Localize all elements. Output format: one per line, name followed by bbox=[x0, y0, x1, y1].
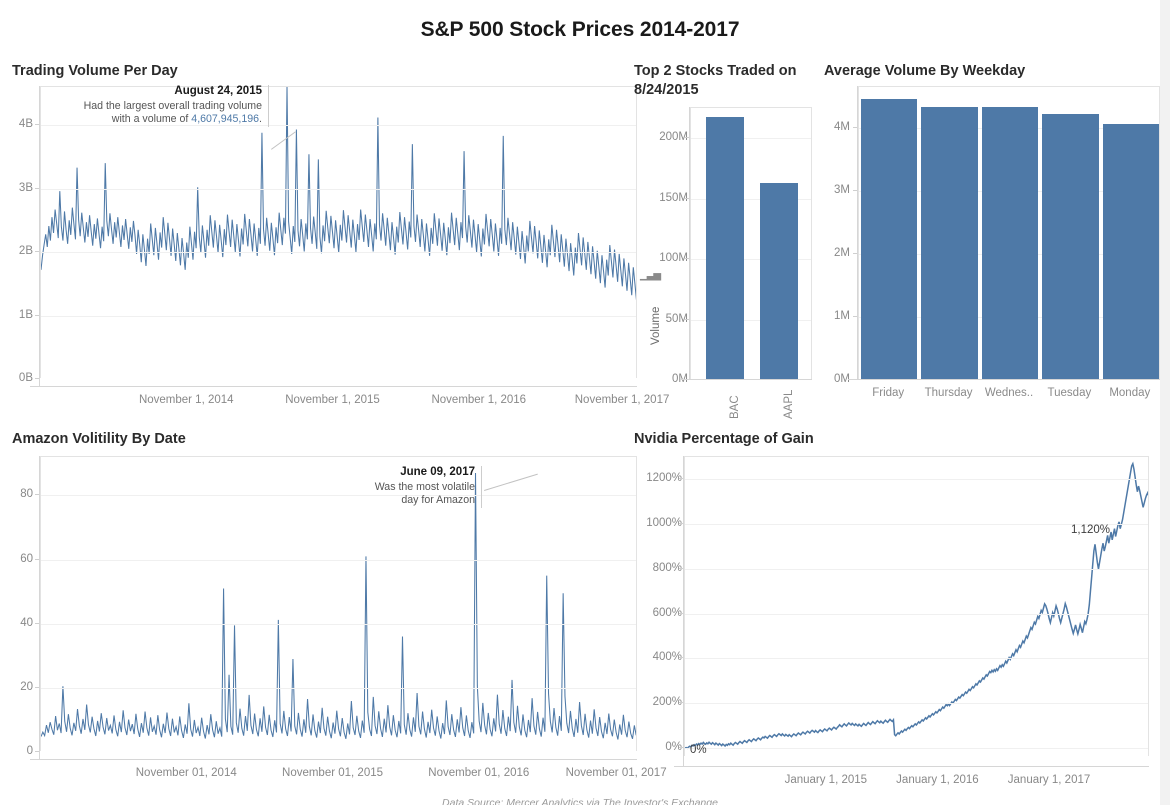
bar-wednes[interactable] bbox=[982, 107, 1038, 379]
panel-title-trading-volume: Trading Volume Per Day bbox=[12, 62, 637, 81]
x-axis-tick-label: January 1, 2017 bbox=[1008, 774, 1090, 786]
x-axis-tick-label: November 1, 2015 bbox=[285, 394, 380, 406]
bar-monday[interactable] bbox=[1103, 124, 1159, 379]
annotation-line-2-suffix: . bbox=[259, 113, 262, 125]
nvidia-end-value-label: 1,120% bbox=[1071, 524, 1110, 536]
y-axis-tick-label: 40 bbox=[20, 617, 33, 629]
x-axis-tick-label: November 01, 2015 bbox=[282, 767, 383, 779]
panel-title-top-2-stocks-line1: Top 2 Stocks Traded on bbox=[634, 62, 818, 81]
axis-line-bottom bbox=[680, 379, 812, 380]
axis-line-left bbox=[39, 86, 40, 386]
y-axis-tick-label: 100M bbox=[659, 252, 688, 264]
panel-title-nvidia: Nvidia Percentage of Gain bbox=[634, 430, 1160, 449]
annotation-heading: August 24, 2015 bbox=[32, 85, 262, 99]
gridline bbox=[685, 658, 1148, 659]
y-axis-tick-label: 1200% bbox=[646, 472, 682, 484]
panel-top-2-stocks: Top 2 Stocks Traded on 8/24/2015 ▁▃▅ Vol… bbox=[634, 62, 818, 417]
trading-volume-line-series bbox=[41, 87, 637, 378]
x-axis-tick-label: November 01, 2016 bbox=[428, 767, 529, 779]
y-axis-tick-label: 600% bbox=[653, 607, 682, 619]
y-axis-tick-label: 1M bbox=[834, 310, 850, 322]
panel-amazon-volatility: Amazon Volitility By Date 020406080 Nove… bbox=[12, 430, 637, 790]
x-axis-tick-label: January 1, 2015 bbox=[785, 774, 867, 786]
dashboard-title: S&P 500 Stock Prices 2014-2017 bbox=[0, 18, 1160, 42]
data-source-footer: Data Source: Mercer Analytics via The In… bbox=[0, 797, 1160, 805]
panel-average-volume-by-weekday: Average Volume By Weekday 0M1M2M3M4M Fri… bbox=[824, 62, 1160, 417]
gridline bbox=[685, 614, 1148, 615]
panel-nvidia-percentage-of-gain: Nvidia Percentage of Gain 0%200%400%600%… bbox=[634, 430, 1160, 790]
bar-friday[interactable] bbox=[861, 99, 917, 379]
gridline bbox=[685, 703, 1148, 704]
y-axis-tick-label: 1000% bbox=[646, 517, 682, 529]
y-axis-tick-label: 2M bbox=[834, 247, 850, 259]
y-axis-tick-label: 2B bbox=[19, 245, 33, 257]
gridline bbox=[685, 748, 1148, 749]
y-axis-tick-label: 150M bbox=[659, 192, 688, 204]
y-axis-tick-label: 1B bbox=[19, 309, 33, 321]
y-axis-tick-label: 20 bbox=[20, 681, 33, 693]
y-axis-tick-label: 3M bbox=[834, 184, 850, 196]
average-volume-plot-area[interactable] bbox=[858, 86, 1160, 379]
x-axis-tick-label: November 1, 2016 bbox=[431, 394, 526, 406]
gridline bbox=[41, 316, 636, 317]
panel-trading-volume-per-day: Trading Volume Per Day 0B1B2B3B4B Novemb… bbox=[12, 62, 637, 417]
y-axis-tick-label: 200M bbox=[659, 131, 688, 143]
annotation-august-24-2015: August 24, 2015 Had the largest overall … bbox=[32, 85, 269, 127]
axis-line-bottom bbox=[848, 379, 1160, 380]
bar-category-label: BAC bbox=[729, 395, 741, 419]
bar-category-label: Tuesday bbox=[1048, 387, 1092, 399]
x-axis-tick-label: November 01, 2014 bbox=[136, 767, 237, 779]
annotation-volume-value: 4,607,945,196 bbox=[191, 113, 259, 125]
top-2-stocks-plot-area[interactable] bbox=[690, 107, 812, 379]
panel-title-amazon-volatility: Amazon Volitility By Date bbox=[12, 430, 637, 449]
axis-line-left bbox=[683, 456, 684, 766]
y-axis-tick-label: 80 bbox=[20, 488, 33, 500]
nvidia-line-series bbox=[685, 457, 1149, 756]
gridline bbox=[685, 479, 1148, 480]
axis-line-left bbox=[689, 107, 690, 379]
annotation-line-2: with a volume of 4,607,945,196. bbox=[32, 113, 262, 127]
y-axis-tick-label: 0B bbox=[19, 372, 33, 384]
annotation-line-1: Was the most volatile bbox=[322, 481, 475, 495]
trading-volume-plot-area[interactable] bbox=[40, 86, 637, 378]
bar-category-label: Wednes.. bbox=[985, 387, 1033, 399]
bar-aapl[interactable] bbox=[760, 183, 798, 379]
y-axis-tick-label: 4M bbox=[834, 121, 850, 133]
gridline bbox=[41, 688, 636, 689]
annotation-line-1: Had the largest overall trading volume bbox=[32, 100, 262, 114]
x-axis-tick-label: November 1, 2014 bbox=[139, 394, 234, 406]
y-axis-tick-label: 4B bbox=[19, 118, 33, 130]
gridline bbox=[41, 189, 636, 190]
axis-line-left bbox=[857, 86, 858, 379]
axis-line-left bbox=[39, 456, 40, 759]
panel-title-top-2-stocks-line2: 8/24/2015 bbox=[634, 81, 818, 100]
sort-descending-icon[interactable]: ▁▃▅ bbox=[640, 270, 660, 281]
y-axis-tick-label: 3B bbox=[19, 182, 33, 194]
y-axis-tick-label: 200% bbox=[653, 696, 682, 708]
annotation-heading: June 09, 2017 bbox=[322, 466, 475, 480]
bar-tuesday[interactable] bbox=[1042, 114, 1098, 379]
gridline bbox=[41, 624, 636, 625]
bar-category-label: Friday bbox=[872, 387, 904, 399]
gridline bbox=[685, 569, 1148, 570]
bar-category-label: Thursday bbox=[925, 387, 973, 399]
x-axis-tick-label: January 1, 2016 bbox=[896, 774, 978, 786]
axis-line-bottom bbox=[674, 766, 1149, 767]
y-axis-title-volume: Volume bbox=[650, 307, 662, 345]
nvidia-plot-area[interactable] bbox=[684, 456, 1149, 756]
bar-category-label: Monday bbox=[1109, 387, 1150, 399]
gridline bbox=[41, 252, 636, 253]
gridline bbox=[41, 560, 636, 561]
y-axis-tick-label: 0 bbox=[27, 745, 33, 757]
nvidia-start-value-label: 0% bbox=[690, 744, 707, 756]
y-axis-tick-label: 800% bbox=[653, 562, 682, 574]
dashboard-root: S&P 500 Stock Prices 2014-2017 Trading V… bbox=[0, 0, 1160, 805]
y-axis-tick-label: 60 bbox=[20, 553, 33, 565]
annotation-line-2: day for Amazon bbox=[322, 494, 475, 508]
bar-thursday[interactable] bbox=[921, 107, 977, 379]
axis-line-bottom bbox=[30, 759, 637, 760]
bar-bac[interactable] bbox=[706, 117, 744, 379]
axis-line-bottom bbox=[30, 386, 637, 387]
panel-title-average-volume: Average Volume By Weekday bbox=[824, 62, 1160, 81]
y-axis-tick-label: 400% bbox=[653, 651, 682, 663]
annotation-line-2-prefix: with a volume of bbox=[112, 113, 192, 125]
annotation-june-09-2017: June 09, 2017 Was the most volatile day … bbox=[322, 466, 482, 508]
bar-category-label: AAPL bbox=[783, 390, 795, 419]
